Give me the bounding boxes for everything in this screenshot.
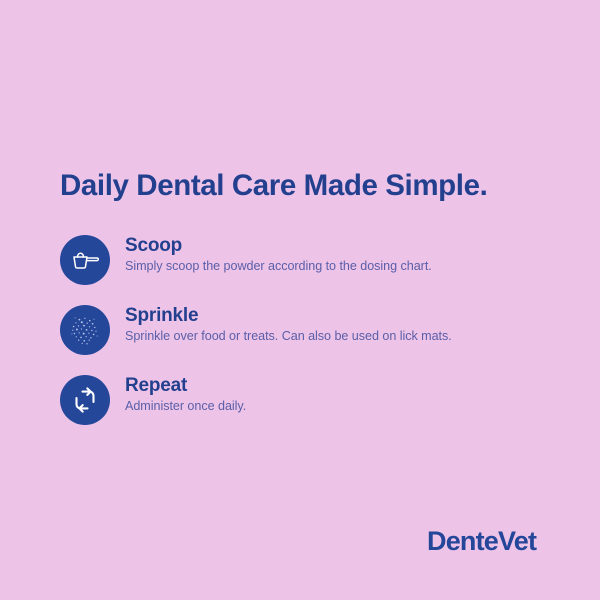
repeat-icon (60, 375, 110, 425)
list-item: Scoop Simply scoop the powder according … (60, 234, 540, 304)
list-item: Sprinkle Sprinkle over food or treats. C… (60, 304, 540, 374)
promo-poster: Daily Dental Care Made Simple. Scoop Sim… (0, 0, 600, 600)
step-description: Administer once daily. (125, 399, 246, 415)
step-title: Repeat (125, 375, 246, 397)
scoop-icon (60, 235, 110, 285)
list-item: Repeat Administer once daily. (60, 374, 540, 444)
step-description: Sprinkle over food or treats. Can also b… (125, 329, 452, 345)
page-title: Daily Dental Care Made Simple. (60, 170, 487, 202)
step-title: Sprinkle (125, 305, 452, 327)
step-text: Scoop Simply scoop the powder according … (125, 234, 432, 275)
step-description: Simply scoop the powder according to the… (125, 259, 432, 275)
step-text: Sprinkle Sprinkle over food or treats. C… (125, 304, 452, 345)
step-text: Repeat Administer once daily. (125, 374, 246, 415)
step-title: Scoop (125, 235, 432, 257)
sprinkle-dots-icon (60, 305, 110, 355)
steps-list: Scoop Simply scoop the powder according … (60, 234, 540, 444)
brand-logo: DenteVet (427, 526, 536, 557)
